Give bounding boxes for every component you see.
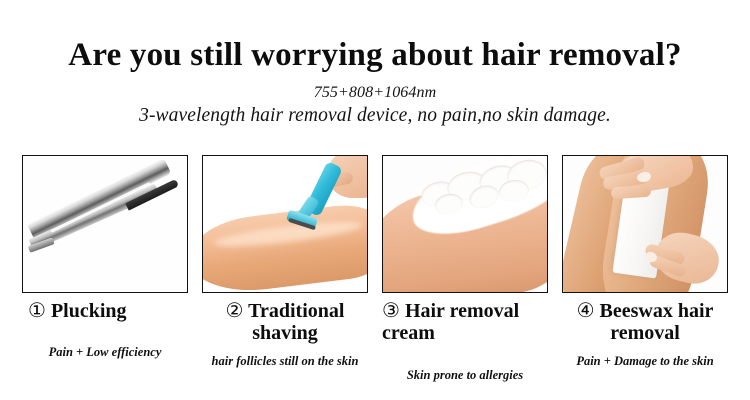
method-caption-cream: ③ Hair removal cream Skin prone to aller… [382,300,548,396]
caption-title: ① Plucking [22,300,188,322]
caption-title: ② Traditional shaving [202,300,368,345]
infographic-page: Are you still worrying about hair remova… [0,0,750,400]
tweezers-illustration [23,156,187,292]
caption-subtitle: Pain + Low efficiency [22,322,188,360]
beeswax-illustration [563,156,727,292]
method-image-panel-shaving [202,155,368,293]
method-image-panel-cream [382,155,548,293]
caption-number: ① [28,300,46,322]
subtitle-description: 3-wavelength hair removal device, no pai… [0,102,750,127]
caption-title: ④ Beeswax hair removal [562,300,728,345]
subtitle-wavelengths: 755+808+1064nm [0,73,750,102]
header: Are you still worrying about hair remova… [0,0,750,127]
caption-title: ③ Hair removal cream [382,300,548,345]
method-caption-plucking: ① Plucking Pain + Low efficiency [22,300,188,396]
method-image-panel-plucking [22,155,188,293]
caption-subtitle: hair follicles still on the skin [202,345,368,369]
caption-number: ③ [382,300,400,322]
tweezers-icon [23,156,187,292]
method-caption-row: ① Plucking Pain + Low efficiency ② Tradi… [22,300,728,396]
shaving-illustration [203,156,367,292]
caption-title-text: Traditional shaving [248,300,344,344]
caption-title-text: Plucking [51,300,127,322]
method-caption-shaving: ② Traditional shaving hair follicles sti… [202,300,368,396]
page-title: Are you still worrying about hair remova… [0,0,750,73]
method-caption-beeswax: ④ Beeswax hair removal Pain + Damage to … [562,300,728,396]
caption-number: ④ [577,300,595,322]
caption-subtitle: Skin prone to allergies [382,345,548,383]
caption-title-text: Hair removal cream [382,300,519,344]
method-image-row [22,155,728,293]
caption-subtitle: Pain + Damage to the skin [562,345,728,369]
cream-illustration [383,156,547,292]
method-image-panel-beeswax [562,155,728,293]
caption-number: ② [226,300,244,322]
caption-title-text: Beeswax hair removal [600,300,714,344]
